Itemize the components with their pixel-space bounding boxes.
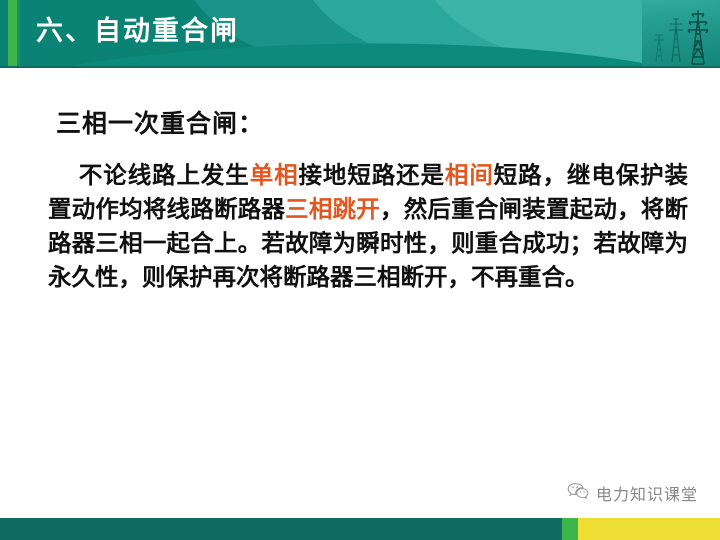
footer-bar [0,518,720,540]
header-divider [0,66,720,68]
paragraph-text: 不论线路上发生 [78,161,250,189]
watermark-label: 电力知识课堂 [596,481,698,505]
header-wave-decoration-1 [168,0,720,68]
footer-bar-green-segment [562,518,578,540]
header-accent-stripe [8,0,17,68]
transmission-tower-icon [642,0,720,68]
paragraph-highlight-text: 三相跳开 [285,195,380,223]
wechat-icon [567,482,589,504]
header-accent-stripe-inner [17,0,20,68]
footer-bar-yellow-segment [578,518,720,540]
slide-header-banner: 六、自动重合闸 [0,0,720,68]
paragraph-text: 接地短路还是 [299,161,445,189]
presentation-slide: 六、自动重合闸 三相一次重合闸： 不论线路上发生单相接地短路还是相间短路，继电保… [0,0,720,540]
footer-bar-teal-segment [0,518,562,540]
slide-content: 三相一次重合闸： 不论线路上发生单相接地短路还是相间短路，继电保护装置动作均将线… [0,68,720,508]
section-subtitle: 三相一次重合闸： [56,104,264,140]
body-paragraph: 不论线路上发生单相接地短路还是相间短路，继电保护装置动作均将线路断路器三相跳开，… [48,158,688,294]
page-title: 六、自动重合闸 [36,12,239,52]
watermark: 电力知识课堂 [567,481,698,505]
paragraph-highlight-text: 单相 [250,161,299,189]
paragraph-highlight-text: 相间 [445,161,494,189]
